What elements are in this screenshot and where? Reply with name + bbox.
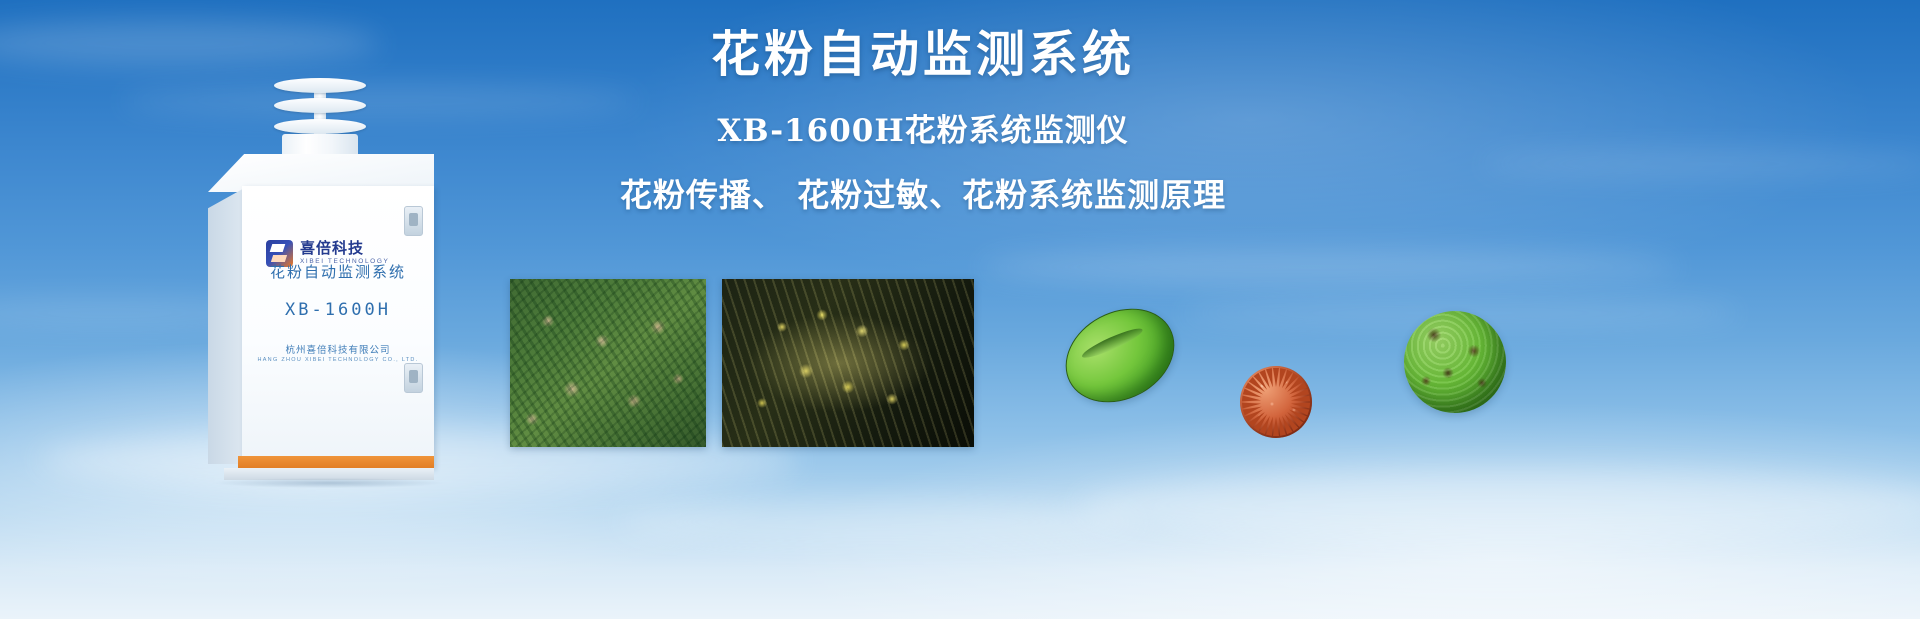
cloud-wisp bbox=[0, 20, 380, 66]
spiky-pollen-grain bbox=[1224, 350, 1328, 454]
cabinet-latch-lower bbox=[404, 363, 423, 393]
brand-name-cn: 喜倍科技 bbox=[300, 241, 389, 257]
banner-subtitle-model: XB-1600H花粉系统监测仪 bbox=[603, 116, 1243, 147]
cloud-wisp bbox=[1080, 470, 1920, 540]
cloud-wisp bbox=[1480, 150, 1920, 178]
headings-block: 花粉自动监测系统 XB-1600H花粉系统监测仪 花粉传播、 花粉过敏、花粉系统… bbox=[603, 30, 1243, 211]
catkin-pollen-photo bbox=[722, 279, 974, 447]
oval-pollen-grain bbox=[1049, 290, 1191, 420]
device-company-en: HANG ZHOU XIBEI TECHNOLOGY CO., LTD. bbox=[242, 357, 434, 363]
air-inlet-stack bbox=[274, 78, 366, 140]
cabinet-latch-upper bbox=[404, 206, 423, 236]
pollen-monitoring-banner: 花粉自动监测系统 XB-1600H花粉系统监测仪 花粉传播、 花粉过敏、花粉系统… bbox=[0, 0, 1920, 619]
cypress-pollen-cones-photo bbox=[510, 279, 706, 447]
banner-title: 花粉自动监测系统 bbox=[603, 30, 1243, 79]
cloud-wisp bbox=[980, 250, 1680, 284]
pollen-monitor-device: 喜倍科技 XIBEI TECHNOLOGY 花粉自动监测系统 XB-1600H … bbox=[196, 78, 446, 428]
device-ground-shadow bbox=[216, 478, 442, 488]
inlet-disc-bottom bbox=[274, 119, 366, 134]
inlet-disc-middle bbox=[274, 98, 366, 113]
cloud-wisp bbox=[620, 498, 1140, 546]
device-company-cn: 杭州喜倍科技有限公司 bbox=[242, 342, 434, 356]
spherical-pollen-grain bbox=[1404, 311, 1506, 413]
banner-subtitle-topics: 花粉传播、 花粉过敏、花粉系统监测原理 bbox=[603, 179, 1243, 211]
inlet-disc-top bbox=[274, 78, 366, 93]
device-model-number: XB-1600H bbox=[242, 300, 434, 320]
device-product-name: 花粉自动监测系统 bbox=[242, 261, 434, 282]
